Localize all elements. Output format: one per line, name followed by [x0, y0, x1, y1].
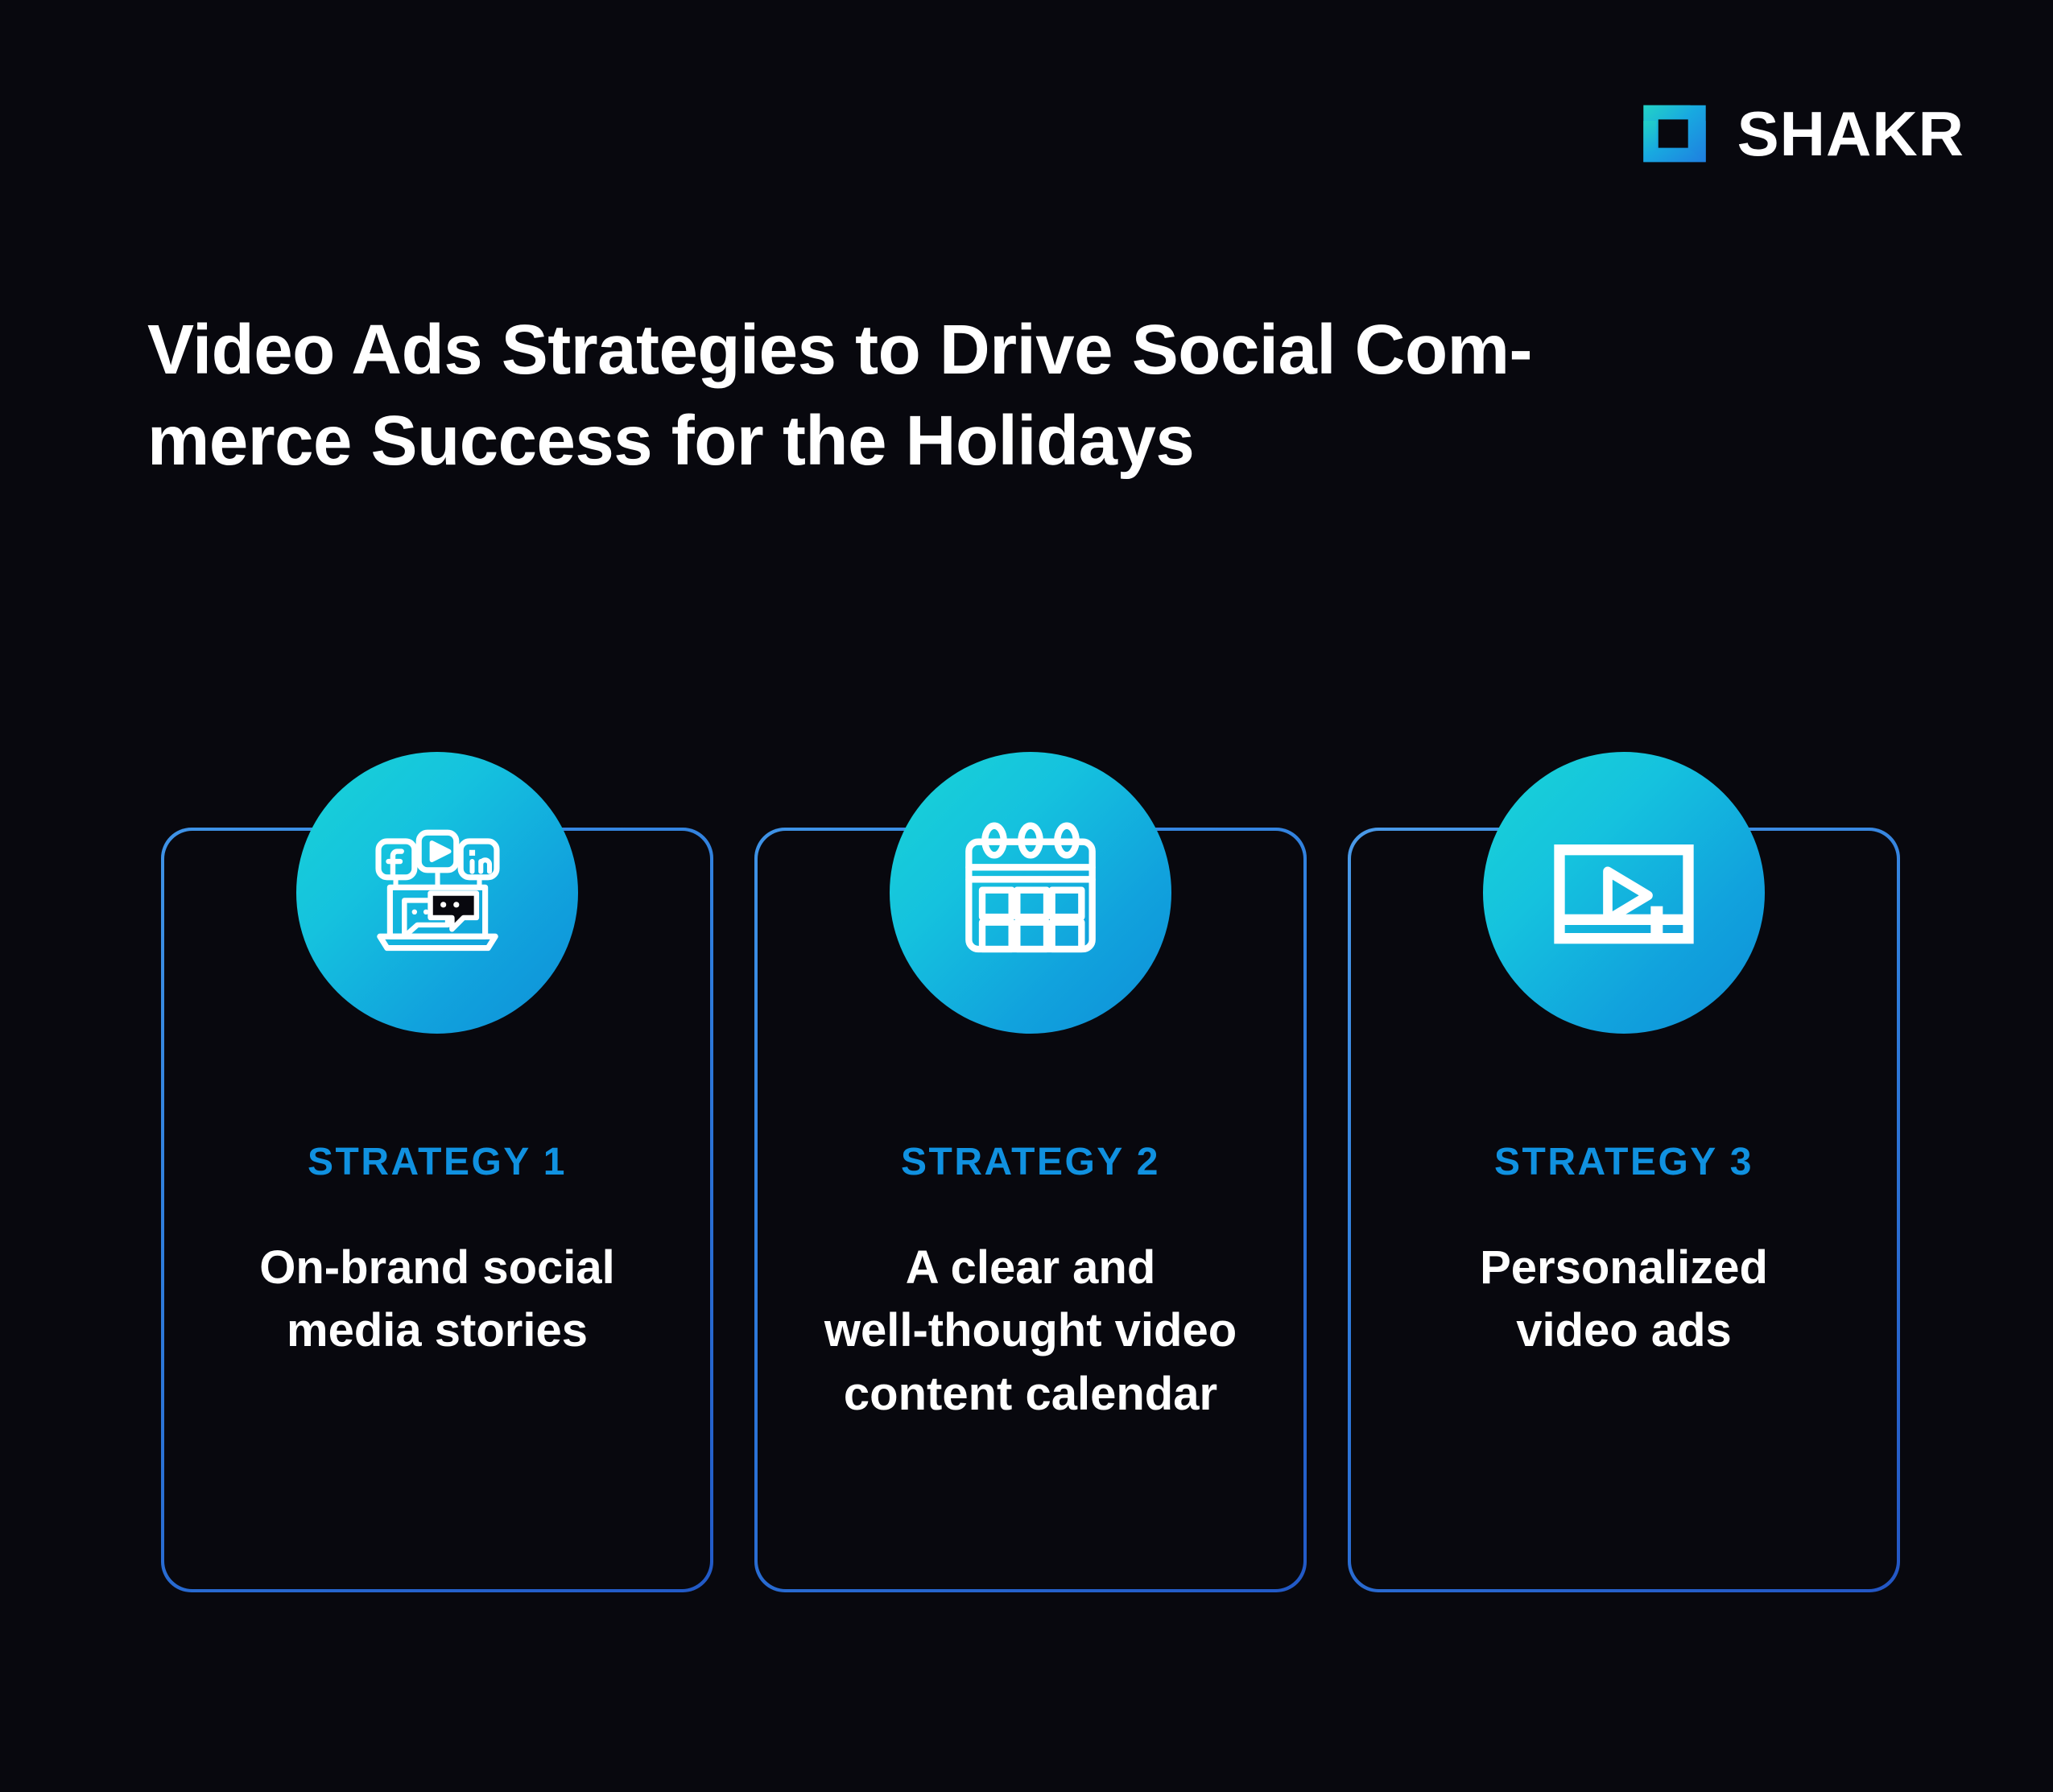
strategy-headline: A clear and well-thought video content c… — [792, 1237, 1269, 1426]
shakr-cube-logo-icon — [1639, 98, 1710, 169]
strategy-headline: Personalized video ads — [1448, 1237, 1800, 1363]
brand-wordmark: SHAKR — [1737, 102, 1964, 165]
brand-logo[interactable]: SHAKR — [1639, 98, 1964, 169]
social-media-laptop-icon — [296, 752, 578, 1034]
strategy-kicker: STRATEGY 3 — [1494, 1143, 1754, 1182]
strategy-headline: On-brand social media stories — [227, 1237, 647, 1363]
strategy-kicker: STRATEGY 2 — [901, 1143, 1160, 1182]
strategy-card-1[interactable]: STRATEGY 1 On-brand social media stories — [161, 828, 713, 1592]
strategy-card-list: STRATEGY 1 On-brand social media stories — [161, 828, 1900, 1592]
strategy-card-3[interactable]: STRATEGY 3 Personalized video ads — [1348, 828, 1900, 1592]
strategy-kicker: STRATEGY 1 — [308, 1143, 567, 1182]
strategy-card-2[interactable]: STRATEGY 2 A clear and well-thought vide… — [754, 828, 1307, 1592]
calendar-icon — [890, 752, 1171, 1034]
video-player-icon — [1483, 752, 1765, 1034]
page-title: Video Ads Strategies to Drive Social Com… — [147, 304, 1806, 486]
